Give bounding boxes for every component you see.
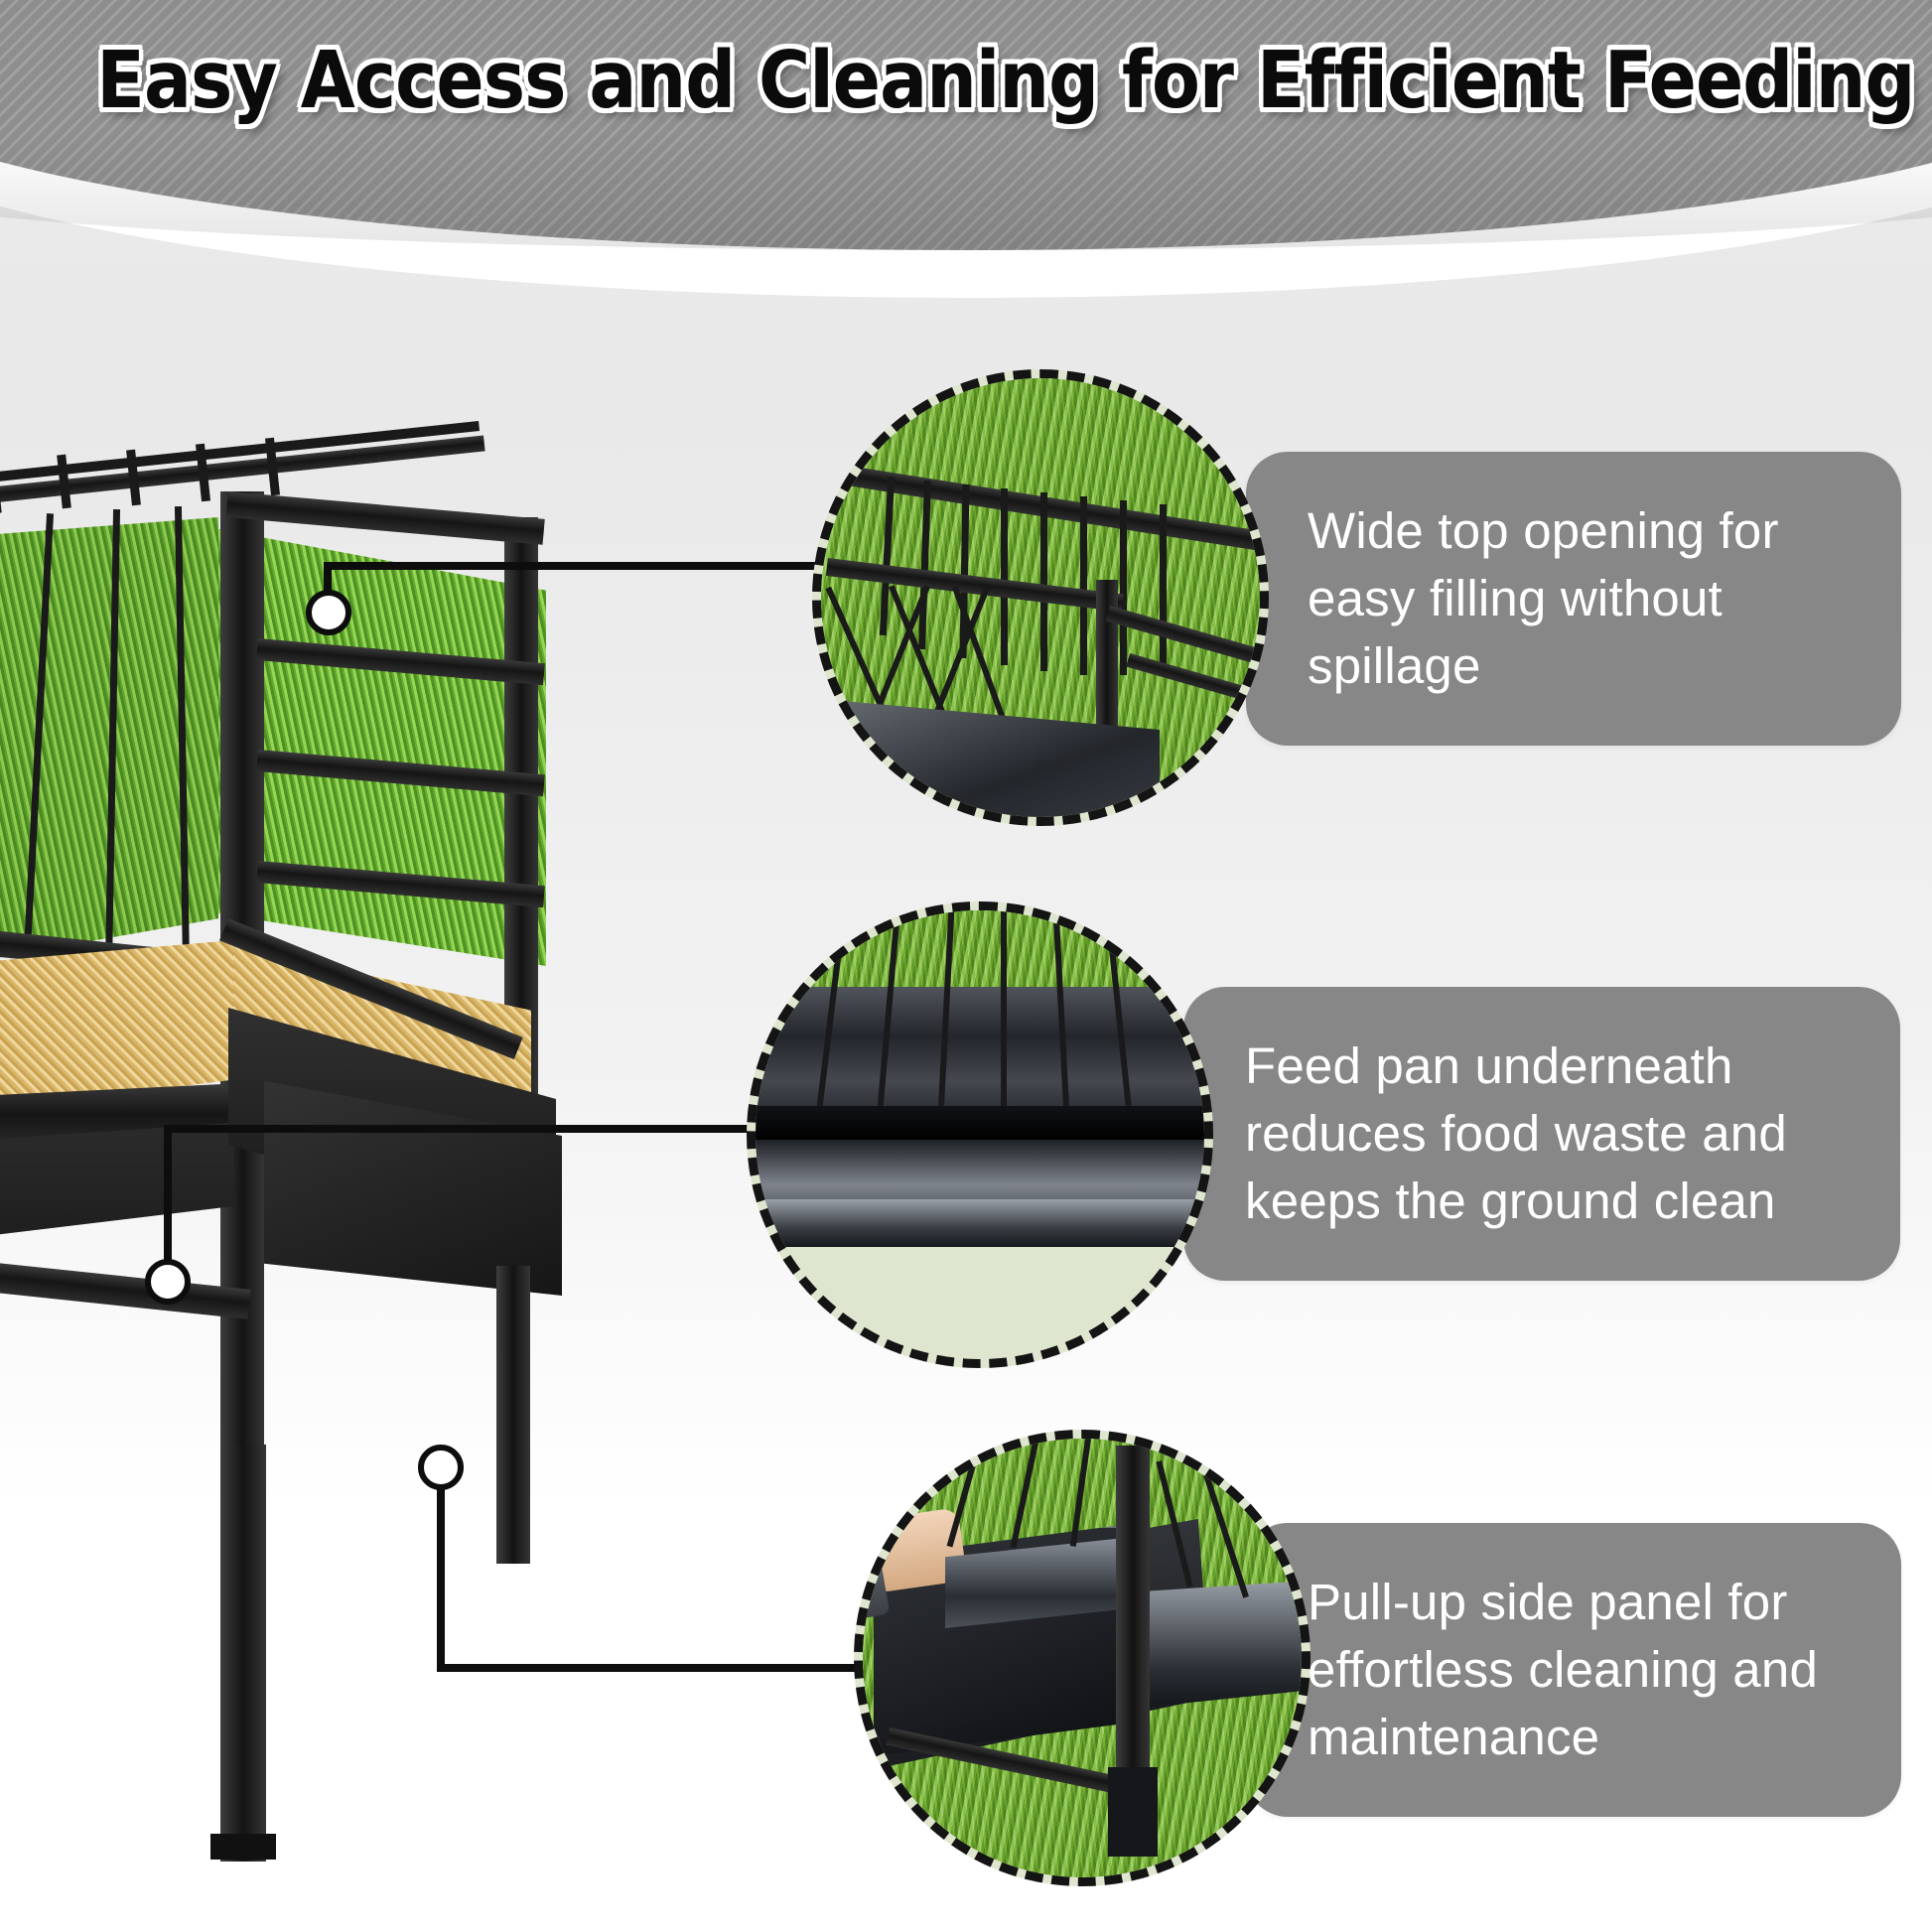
- header-banner: Easy Access and Cleaning for Efficient F…: [0, 0, 1932, 298]
- marker-dot-1: [306, 590, 351, 635]
- product-hero-image: [0, 452, 725, 1524]
- callout1-bar: [1120, 500, 1127, 675]
- callout1-bar: [1080, 496, 1087, 675]
- leader-line-2-horizontal: [164, 1125, 829, 1133]
- callout1-bar: [1160, 504, 1167, 673]
- leader-line-3-horizontal: [437, 1664, 908, 1672]
- feature-caption-3-text: Pull-up side panel for effortless cleani…: [1308, 1574, 1818, 1765]
- marker-dot-2: [145, 1259, 191, 1305]
- callout-photo-3: [854, 1430, 1311, 1886]
- leader-line-2-vertical: [164, 1125, 172, 1274]
- product-illustration: [0, 452, 725, 1524]
- callout-circle-1: [812, 369, 1269, 826]
- callout2-pan-upper: [747, 987, 1213, 1112]
- feeder-bottom-brace: [0, 1246, 251, 1319]
- feature-caption-3: Pull-up side panel for effortless cleani…: [1246, 1523, 1901, 1817]
- infographic-canvas: Easy Access and Cleaning for Efficient F…: [0, 0, 1932, 1932]
- callout-circle-2: [747, 901, 1213, 1368]
- feed-pan-skirt-left: [0, 1123, 233, 1272]
- callout-photo-2: [747, 901, 1213, 1368]
- feature-caption-1: Wide top opening for easy filling withou…: [1246, 452, 1901, 746]
- feature-caption-2: Feed pan underneath reduces food waste a…: [1183, 987, 1900, 1281]
- feature-caption-1-text: Wide top opening for easy filling withou…: [1308, 502, 1779, 694]
- feeder-leg-right: [496, 1266, 530, 1564]
- callout1-bar: [1001, 488, 1008, 665]
- callout-circle-3: [854, 1430, 1311, 1886]
- callout3-right-pan: [1142, 1579, 1311, 1708]
- callout1-bar: [1040, 492, 1047, 671]
- callout2-pan-lip: [747, 1199, 1213, 1247]
- leader-line-3-vertical: [437, 1487, 445, 1672]
- callout3-foot: [1108, 1767, 1158, 1857]
- leader-line-1-horizontal: [324, 562, 896, 570]
- feeder-foot-bracket: [210, 1834, 276, 1860]
- page-title: Easy Access and Cleaning for Efficient F…: [96, 38, 1835, 123]
- feeder-top-front-rail: [226, 491, 545, 545]
- callout2-pan-rim: [747, 1106, 1213, 1140]
- feeder-leg-left: [220, 1445, 266, 1862]
- callout2-bar: [1001, 901, 1007, 1124]
- feature-caption-2-text: Feed pan underneath reduces food waste a…: [1245, 1037, 1787, 1229]
- callout-photo-1: [812, 369, 1269, 826]
- marker-dot-3: [418, 1445, 464, 1490]
